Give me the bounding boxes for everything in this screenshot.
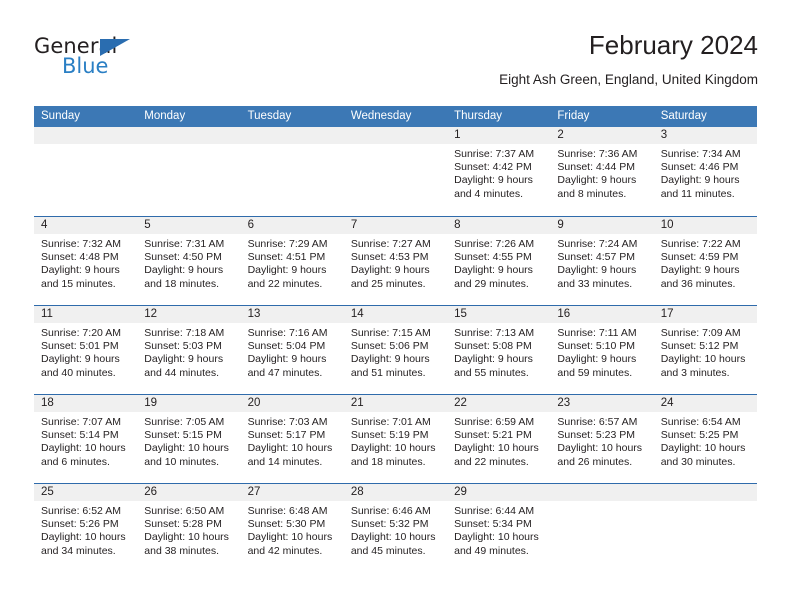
calendar-page: General Blue February 2024 Eight Ash Gre… — [0, 0, 792, 612]
day-number-band: 25 — [34, 484, 137, 501]
day-number: 5 — [137, 217, 240, 234]
daylight-text: and 15 minutes. — [41, 278, 131, 291]
sunset-text: Sunset: 5:12 PM — [661, 340, 751, 353]
daylight-text: and 14 minutes. — [248, 456, 338, 469]
day-detail-lines: Sunrise: 7:29 AMSunset: 4:51 PMDaylight:… — [241, 234, 344, 291]
day-number: 21 — [344, 395, 447, 412]
sunrise-text: Sunrise: 7:36 AM — [557, 148, 647, 161]
sunset-text: Sunset: 5:23 PM — [557, 429, 647, 442]
day-number-band: 18 — [34, 395, 137, 412]
daylight-text: Daylight: 9 hours — [557, 353, 647, 366]
calendar-weeks: 1Sunrise: 7:37 AMSunset: 4:42 PMDaylight… — [34, 127, 757, 572]
daylight-text: Daylight: 10 hours — [351, 442, 441, 455]
day-number-band: 16 — [550, 306, 653, 323]
day-number: 12 — [137, 306, 240, 323]
day-number: 14 — [344, 306, 447, 323]
day-detail-lines: Sunrise: 7:36 AMSunset: 4:44 PMDaylight:… — [550, 144, 653, 201]
day-detail-lines: Sunrise: 6:59 AMSunset: 5:21 PMDaylight:… — [447, 412, 550, 469]
daylight-text: Daylight: 10 hours — [557, 442, 647, 455]
day-number-band: 11 — [34, 306, 137, 323]
day-number: 8 — [447, 217, 550, 234]
calendar-day-cell[interactable]: 2Sunrise: 7:36 AMSunset: 4:44 PMDaylight… — [550, 127, 653, 216]
calendar-day-cell-empty — [137, 127, 240, 216]
day-detail-lines: Sunrise: 6:52 AMSunset: 5:26 PMDaylight:… — [34, 501, 137, 558]
calendar-day-cell[interactable]: 16Sunrise: 7:11 AMSunset: 5:10 PMDayligh… — [550, 306, 653, 394]
daylight-text: and 8 minutes. — [557, 188, 647, 201]
sunrise-text: Sunrise: 7:26 AM — [454, 238, 544, 251]
day-number-band: 15 — [447, 306, 550, 323]
daylight-text: Daylight: 9 hours — [454, 353, 544, 366]
day-number: 10 — [654, 217, 757, 234]
day-number-band: 19 — [137, 395, 240, 412]
sunrise-text: Sunrise: 7:22 AM — [661, 238, 751, 251]
sunset-text: Sunset: 5:25 PM — [661, 429, 751, 442]
day-detail-lines: Sunrise: 7:26 AMSunset: 4:55 PMDaylight:… — [447, 234, 550, 291]
sunset-text: Sunset: 5:28 PM — [144, 518, 234, 531]
day-number: 2 — [550, 127, 653, 144]
sunset-text: Sunset: 4:46 PM — [661, 161, 751, 174]
daylight-text: and 30 minutes. — [661, 456, 751, 469]
calendar-day-cell[interactable]: 10Sunrise: 7:22 AMSunset: 4:59 PMDayligh… — [654, 217, 757, 305]
calendar-day-cell[interactable]: 25Sunrise: 6:52 AMSunset: 5:26 PMDayligh… — [34, 484, 137, 572]
day-number-band: 26 — [137, 484, 240, 501]
day-detail-lines: Sunrise: 6:48 AMSunset: 5:30 PMDaylight:… — [241, 501, 344, 558]
day-number: 19 — [137, 395, 240, 412]
day-detail-lines: Sunrise: 7:13 AMSunset: 5:08 PMDaylight:… — [447, 323, 550, 380]
day-detail-lines: Sunrise: 6:44 AMSunset: 5:34 PMDaylight:… — [447, 501, 550, 558]
daylight-text: and 25 minutes. — [351, 278, 441, 291]
day-number-band: 14 — [344, 306, 447, 323]
daylight-text: Daylight: 9 hours — [351, 264, 441, 277]
sunset-text: Sunset: 4:53 PM — [351, 251, 441, 264]
day-number-band: 4 — [34, 217, 137, 234]
day-number-band: 13 — [241, 306, 344, 323]
daylight-text: and 4 minutes. — [454, 188, 544, 201]
day-number: 16 — [550, 306, 653, 323]
day-number-band: 5 — [137, 217, 240, 234]
daylight-text: and 49 minutes. — [454, 545, 544, 558]
calendar-day-cell[interactable]: 19Sunrise: 7:05 AMSunset: 5:15 PMDayligh… — [137, 395, 240, 483]
sunrise-text: Sunrise: 7:32 AM — [41, 238, 131, 251]
sunset-text: Sunset: 4:48 PM — [41, 251, 131, 264]
daylight-text: and 47 minutes. — [248, 367, 338, 380]
day-number-band: 27 — [241, 484, 344, 501]
daylight-text: and 18 minutes. — [351, 456, 441, 469]
day-detail-lines: Sunrise: 6:50 AMSunset: 5:28 PMDaylight:… — [137, 501, 240, 558]
daylight-text: and 18 minutes. — [144, 278, 234, 291]
calendar-day-cell[interactable]: 12Sunrise: 7:18 AMSunset: 5:03 PMDayligh… — [137, 306, 240, 394]
page-subtitle: Eight Ash Green, England, United Kingdom — [499, 72, 758, 87]
daylight-text: Daylight: 9 hours — [248, 264, 338, 277]
daylight-text: and 10 minutes. — [144, 456, 234, 469]
sunrise-text: Sunrise: 6:59 AM — [454, 416, 544, 429]
day-number-band: 23 — [550, 395, 653, 412]
calendar-week-row: 25Sunrise: 6:52 AMSunset: 5:26 PMDayligh… — [34, 483, 757, 572]
day-number: 1 — [447, 127, 550, 144]
day-number-band: 28 — [344, 484, 447, 501]
day-detail-lines: Sunrise: 7:34 AMSunset: 4:46 PMDaylight:… — [654, 144, 757, 201]
day-detail-lines: Sunrise: 7:07 AMSunset: 5:14 PMDaylight:… — [34, 412, 137, 469]
day-number: 15 — [447, 306, 550, 323]
weekday-header-friday: Friday — [550, 106, 653, 127]
daylight-text: and 33 minutes. — [557, 278, 647, 291]
day-number-band: 21 — [344, 395, 447, 412]
calendar-day-cell-empty — [550, 484, 653, 572]
sunrise-text: Sunrise: 6:48 AM — [248, 505, 338, 518]
sunset-text: Sunset: 5:19 PM — [351, 429, 441, 442]
day-detail-lines: Sunrise: 7:05 AMSunset: 5:15 PMDaylight:… — [137, 412, 240, 469]
sunrise-text: Sunrise: 7:18 AM — [144, 327, 234, 340]
calendar-day-cell-empty — [34, 127, 137, 216]
day-number-band — [344, 127, 447, 144]
day-number-band: 1 — [447, 127, 550, 144]
sunset-text: Sunset: 5:10 PM — [557, 340, 647, 353]
daylight-text: Daylight: 9 hours — [41, 353, 131, 366]
sunset-text: Sunset: 5:04 PM — [248, 340, 338, 353]
sunrise-text: Sunrise: 6:44 AM — [454, 505, 544, 518]
calendar-day-cell[interactable]: 4Sunrise: 7:32 AMSunset: 4:48 PMDaylight… — [34, 217, 137, 305]
sunrise-text: Sunrise: 7:11 AM — [557, 327, 647, 340]
sunrise-text: Sunrise: 7:27 AM — [351, 238, 441, 251]
daylight-text: Daylight: 9 hours — [661, 174, 751, 187]
sunrise-text: Sunrise: 6:46 AM — [351, 505, 441, 518]
day-number: 27 — [241, 484, 344, 501]
daylight-text: and 45 minutes. — [351, 545, 441, 558]
day-detail-lines: Sunrise: 7:11 AMSunset: 5:10 PMDaylight:… — [550, 323, 653, 380]
daylight-text: Daylight: 9 hours — [248, 353, 338, 366]
sunrise-text: Sunrise: 7:37 AM — [454, 148, 544, 161]
day-number-band: 9 — [550, 217, 653, 234]
day-detail-lines: Sunrise: 7:03 AMSunset: 5:17 PMDaylight:… — [241, 412, 344, 469]
calendar-day-cell-empty — [654, 484, 757, 572]
daylight-text: Daylight: 9 hours — [41, 264, 131, 277]
day-number-band — [550, 484, 653, 501]
day-detail-lines: Sunrise: 7:31 AMSunset: 4:50 PMDaylight:… — [137, 234, 240, 291]
day-number: 20 — [241, 395, 344, 412]
calendar-day-cell[interactable]: 8Sunrise: 7:26 AMSunset: 4:55 PMDaylight… — [447, 217, 550, 305]
day-number-band: 12 — [137, 306, 240, 323]
sunset-text: Sunset: 5:30 PM — [248, 518, 338, 531]
day-number: 7 — [344, 217, 447, 234]
day-detail-lines: Sunrise: 7:20 AMSunset: 5:01 PMDaylight:… — [34, 323, 137, 380]
day-detail-lines: Sunrise: 7:09 AMSunset: 5:12 PMDaylight:… — [654, 323, 757, 380]
daylight-text: and 55 minutes. — [454, 367, 544, 380]
day-number: 13 — [241, 306, 344, 323]
day-number-band — [34, 127, 137, 144]
calendar-day-cell[interactable]: 7Sunrise: 7:27 AMSunset: 4:53 PMDaylight… — [344, 217, 447, 305]
daylight-text: and 59 minutes. — [557, 367, 647, 380]
weekday-header-thursday: Thursday — [447, 106, 550, 127]
day-number-band: 22 — [447, 395, 550, 412]
logo-text-blue: Blue — [62, 54, 108, 78]
sunset-text: Sunset: 4:51 PM — [248, 251, 338, 264]
sunrise-text: Sunrise: 7:09 AM — [661, 327, 751, 340]
sunrise-text: Sunrise: 7:03 AM — [248, 416, 338, 429]
day-number: 28 — [344, 484, 447, 501]
day-detail-lines: Sunrise: 7:24 AMSunset: 4:57 PMDaylight:… — [550, 234, 653, 291]
calendar-week-row: 11Sunrise: 7:20 AMSunset: 5:01 PMDayligh… — [34, 305, 757, 394]
sunset-text: Sunset: 4:50 PM — [144, 251, 234, 264]
sunset-text: Sunset: 5:26 PM — [41, 518, 131, 531]
daylight-text: Daylight: 10 hours — [661, 353, 751, 366]
daylight-text: Daylight: 10 hours — [41, 442, 131, 455]
day-number: 3 — [654, 127, 757, 144]
calendar-grid: SundayMondayTuesdayWednesdayThursdayFrid… — [34, 106, 757, 572]
day-number: 22 — [447, 395, 550, 412]
calendar-day-cell[interactable]: 5Sunrise: 7:31 AMSunset: 4:50 PMDaylight… — [137, 217, 240, 305]
calendar-day-cell[interactable]: 17Sunrise: 7:09 AMSunset: 5:12 PMDayligh… — [654, 306, 757, 394]
daylight-text: Daylight: 10 hours — [454, 531, 544, 544]
day-number-band: 6 — [241, 217, 344, 234]
daylight-text: Daylight: 9 hours — [557, 174, 647, 187]
day-number: 9 — [550, 217, 653, 234]
daylight-text: and 42 minutes. — [248, 545, 338, 558]
daylight-text: Daylight: 10 hours — [144, 442, 234, 455]
sunrise-text: Sunrise: 7:31 AM — [144, 238, 234, 251]
general-blue-logo[interactable]: General Blue — [34, 34, 194, 90]
daylight-text: and 38 minutes. — [144, 545, 234, 558]
calendar-day-cell[interactable]: 27Sunrise: 6:48 AMSunset: 5:30 PMDayligh… — [241, 484, 344, 572]
day-number-band: 20 — [241, 395, 344, 412]
daylight-text: Daylight: 9 hours — [351, 353, 441, 366]
sunrise-text: Sunrise: 6:50 AM — [144, 505, 234, 518]
day-number: 25 — [34, 484, 137, 501]
calendar-day-cell[interactable]: 23Sunrise: 6:57 AMSunset: 5:23 PMDayligh… — [550, 395, 653, 483]
calendar-day-cell-empty — [241, 127, 344, 216]
sunrise-text: Sunrise: 7:01 AM — [351, 416, 441, 429]
sunrise-text: Sunrise: 7:20 AM — [41, 327, 131, 340]
daylight-text: and 36 minutes. — [661, 278, 751, 291]
calendar-day-cell[interactable]: 3Sunrise: 7:34 AMSunset: 4:46 PMDaylight… — [654, 127, 757, 216]
daylight-text: Daylight: 9 hours — [144, 264, 234, 277]
sunrise-text: Sunrise: 7:24 AM — [557, 238, 647, 251]
weekday-header-sunday: Sunday — [34, 106, 137, 127]
daylight-text: and 51 minutes. — [351, 367, 441, 380]
weekday-header-monday: Monday — [137, 106, 240, 127]
page-header: General Blue February 2024 Eight Ash Gre… — [34, 30, 758, 98]
day-number: 26 — [137, 484, 240, 501]
daylight-text: Daylight: 9 hours — [661, 264, 751, 277]
daylight-text: Daylight: 9 hours — [144, 353, 234, 366]
sunrise-text: Sunrise: 7:16 AM — [248, 327, 338, 340]
day-number-band — [241, 127, 344, 144]
calendar-day-cell[interactable]: 14Sunrise: 7:15 AMSunset: 5:06 PMDayligh… — [344, 306, 447, 394]
calendar-day-cell[interactable]: 18Sunrise: 7:07 AMSunset: 5:14 PMDayligh… — [34, 395, 137, 483]
sunset-text: Sunset: 5:03 PM — [144, 340, 234, 353]
daylight-text: Daylight: 10 hours — [248, 442, 338, 455]
page-title: February 2024 — [589, 30, 758, 61]
day-number-band: 17 — [654, 306, 757, 323]
daylight-text: Daylight: 10 hours — [41, 531, 131, 544]
day-detail-lines: Sunrise: 7:18 AMSunset: 5:03 PMDaylight:… — [137, 323, 240, 380]
day-number: 17 — [654, 306, 757, 323]
calendar-day-cell[interactable]: 22Sunrise: 6:59 AMSunset: 5:21 PMDayligh… — [447, 395, 550, 483]
day-detail-lines: Sunrise: 7:01 AMSunset: 5:19 PMDaylight:… — [344, 412, 447, 469]
daylight-text: and 26 minutes. — [557, 456, 647, 469]
sunset-text: Sunset: 4:59 PM — [661, 251, 751, 264]
calendar-day-cell[interactable]: 11Sunrise: 7:20 AMSunset: 5:01 PMDayligh… — [34, 306, 137, 394]
sunset-text: Sunset: 5:14 PM — [41, 429, 131, 442]
weekday-header-tuesday: Tuesday — [241, 106, 344, 127]
sunset-text: Sunset: 5:17 PM — [248, 429, 338, 442]
daylight-text: and 3 minutes. — [661, 367, 751, 380]
daylight-text: and 40 minutes. — [41, 367, 131, 380]
calendar-day-cell-empty — [344, 127, 447, 216]
daylight-text: and 29 minutes. — [454, 278, 544, 291]
daylight-text: and 6 minutes. — [41, 456, 131, 469]
sunrise-text: Sunrise: 7:07 AM — [41, 416, 131, 429]
day-number-band: 10 — [654, 217, 757, 234]
daylight-text: and 22 minutes. — [248, 278, 338, 291]
day-detail-lines: Sunrise: 6:54 AMSunset: 5:25 PMDaylight:… — [654, 412, 757, 469]
calendar-day-cell[interactable]: 15Sunrise: 7:13 AMSunset: 5:08 PMDayligh… — [447, 306, 550, 394]
calendar-day-cell[interactable]: 21Sunrise: 7:01 AMSunset: 5:19 PMDayligh… — [344, 395, 447, 483]
daylight-text: Daylight: 9 hours — [454, 174, 544, 187]
calendar-day-cell[interactable]: 28Sunrise: 6:46 AMSunset: 5:32 PMDayligh… — [344, 484, 447, 572]
calendar-week-row: 4Sunrise: 7:32 AMSunset: 4:48 PMDaylight… — [34, 216, 757, 305]
daylight-text: Daylight: 9 hours — [454, 264, 544, 277]
daylight-text: and 44 minutes. — [144, 367, 234, 380]
calendar-week-row: 18Sunrise: 7:07 AMSunset: 5:14 PMDayligh… — [34, 394, 757, 483]
day-number: 4 — [34, 217, 137, 234]
day-number: 23 — [550, 395, 653, 412]
sunset-text: Sunset: 4:42 PM — [454, 161, 544, 174]
sunrise-text: Sunrise: 7:34 AM — [661, 148, 751, 161]
sunrise-text: Sunrise: 6:57 AM — [557, 416, 647, 429]
calendar-day-cell[interactable]: 6Sunrise: 7:29 AMSunset: 4:51 PMDaylight… — [241, 217, 344, 305]
day-detail-lines: Sunrise: 7:22 AMSunset: 4:59 PMDaylight:… — [654, 234, 757, 291]
day-detail-lines: Sunrise: 7:32 AMSunset: 4:48 PMDaylight:… — [34, 234, 137, 291]
daylight-text: and 11 minutes. — [661, 188, 751, 201]
day-number-band — [654, 484, 757, 501]
sunrise-text: Sunrise: 7:29 AM — [248, 238, 338, 251]
daylight-text: Daylight: 10 hours — [248, 531, 338, 544]
calendar-day-cell[interactable]: 13Sunrise: 7:16 AMSunset: 5:04 PMDayligh… — [241, 306, 344, 394]
calendar-day-cell[interactable]: 29Sunrise: 6:44 AMSunset: 5:34 PMDayligh… — [447, 484, 550, 572]
calendar-day-cell[interactable]: 24Sunrise: 6:54 AMSunset: 5:25 PMDayligh… — [654, 395, 757, 483]
calendar-day-cell[interactable]: 9Sunrise: 7:24 AMSunset: 4:57 PMDaylight… — [550, 217, 653, 305]
day-number: 6 — [241, 217, 344, 234]
sunset-text: Sunset: 5:08 PM — [454, 340, 544, 353]
daylight-text: and 22 minutes. — [454, 456, 544, 469]
day-detail-lines: Sunrise: 7:15 AMSunset: 5:06 PMDaylight:… — [344, 323, 447, 380]
day-detail-lines: Sunrise: 7:16 AMSunset: 5:04 PMDaylight:… — [241, 323, 344, 380]
daylight-text: Daylight: 9 hours — [557, 264, 647, 277]
sunset-text: Sunset: 5:21 PM — [454, 429, 544, 442]
day-number: 24 — [654, 395, 757, 412]
day-number-band: 7 — [344, 217, 447, 234]
sunset-text: Sunset: 5:15 PM — [144, 429, 234, 442]
sunrise-text: Sunrise: 6:54 AM — [661, 416, 751, 429]
weekday-header-wednesday: Wednesday — [344, 106, 447, 127]
day-detail-lines: Sunrise: 6:46 AMSunset: 5:32 PMDaylight:… — [344, 501, 447, 558]
sunrise-text: Sunrise: 6:52 AM — [41, 505, 131, 518]
sunset-text: Sunset: 5:06 PM — [351, 340, 441, 353]
calendar-day-cell[interactable]: 26Sunrise: 6:50 AMSunset: 5:28 PMDayligh… — [137, 484, 240, 572]
day-detail-lines: Sunrise: 7:37 AMSunset: 4:42 PMDaylight:… — [447, 144, 550, 201]
calendar-day-cell[interactable]: 20Sunrise: 7:03 AMSunset: 5:17 PMDayligh… — [241, 395, 344, 483]
sunset-text: Sunset: 5:34 PM — [454, 518, 544, 531]
sunrise-text: Sunrise: 7:15 AM — [351, 327, 441, 340]
sunset-text: Sunset: 5:32 PM — [351, 518, 441, 531]
day-number-band: 8 — [447, 217, 550, 234]
day-number-band: 29 — [447, 484, 550, 501]
day-detail-lines: Sunrise: 7:27 AMSunset: 4:53 PMDaylight:… — [344, 234, 447, 291]
day-number-band: 3 — [654, 127, 757, 144]
sunrise-text: Sunrise: 7:05 AM — [144, 416, 234, 429]
calendar-day-cell[interactable]: 1Sunrise: 7:37 AMSunset: 4:42 PMDaylight… — [447, 127, 550, 216]
daylight-text: Daylight: 10 hours — [661, 442, 751, 455]
daylight-text: Daylight: 10 hours — [454, 442, 544, 455]
sunset-text: Sunset: 4:55 PM — [454, 251, 544, 264]
daylight-text: Daylight: 10 hours — [144, 531, 234, 544]
day-number: 11 — [34, 306, 137, 323]
sunset-text: Sunset: 4:57 PM — [557, 251, 647, 264]
sunrise-text: Sunrise: 7:13 AM — [454, 327, 544, 340]
day-detail-lines: Sunrise: 6:57 AMSunset: 5:23 PMDaylight:… — [550, 412, 653, 469]
weekday-header-saturday: Saturday — [654, 106, 757, 127]
daylight-text: and 34 minutes. — [41, 545, 131, 558]
day-number: 29 — [447, 484, 550, 501]
day-number-band: 24 — [654, 395, 757, 412]
weekday-header-row: SundayMondayTuesdayWednesdayThursdayFrid… — [34, 106, 757, 127]
sunset-text: Sunset: 5:01 PM — [41, 340, 131, 353]
daylight-text: Daylight: 10 hours — [351, 531, 441, 544]
day-number: 18 — [34, 395, 137, 412]
day-number-band — [137, 127, 240, 144]
sunset-text: Sunset: 4:44 PM — [557, 161, 647, 174]
calendar-week-row: 1Sunrise: 7:37 AMSunset: 4:42 PMDaylight… — [34, 127, 757, 216]
day-number-band: 2 — [550, 127, 653, 144]
